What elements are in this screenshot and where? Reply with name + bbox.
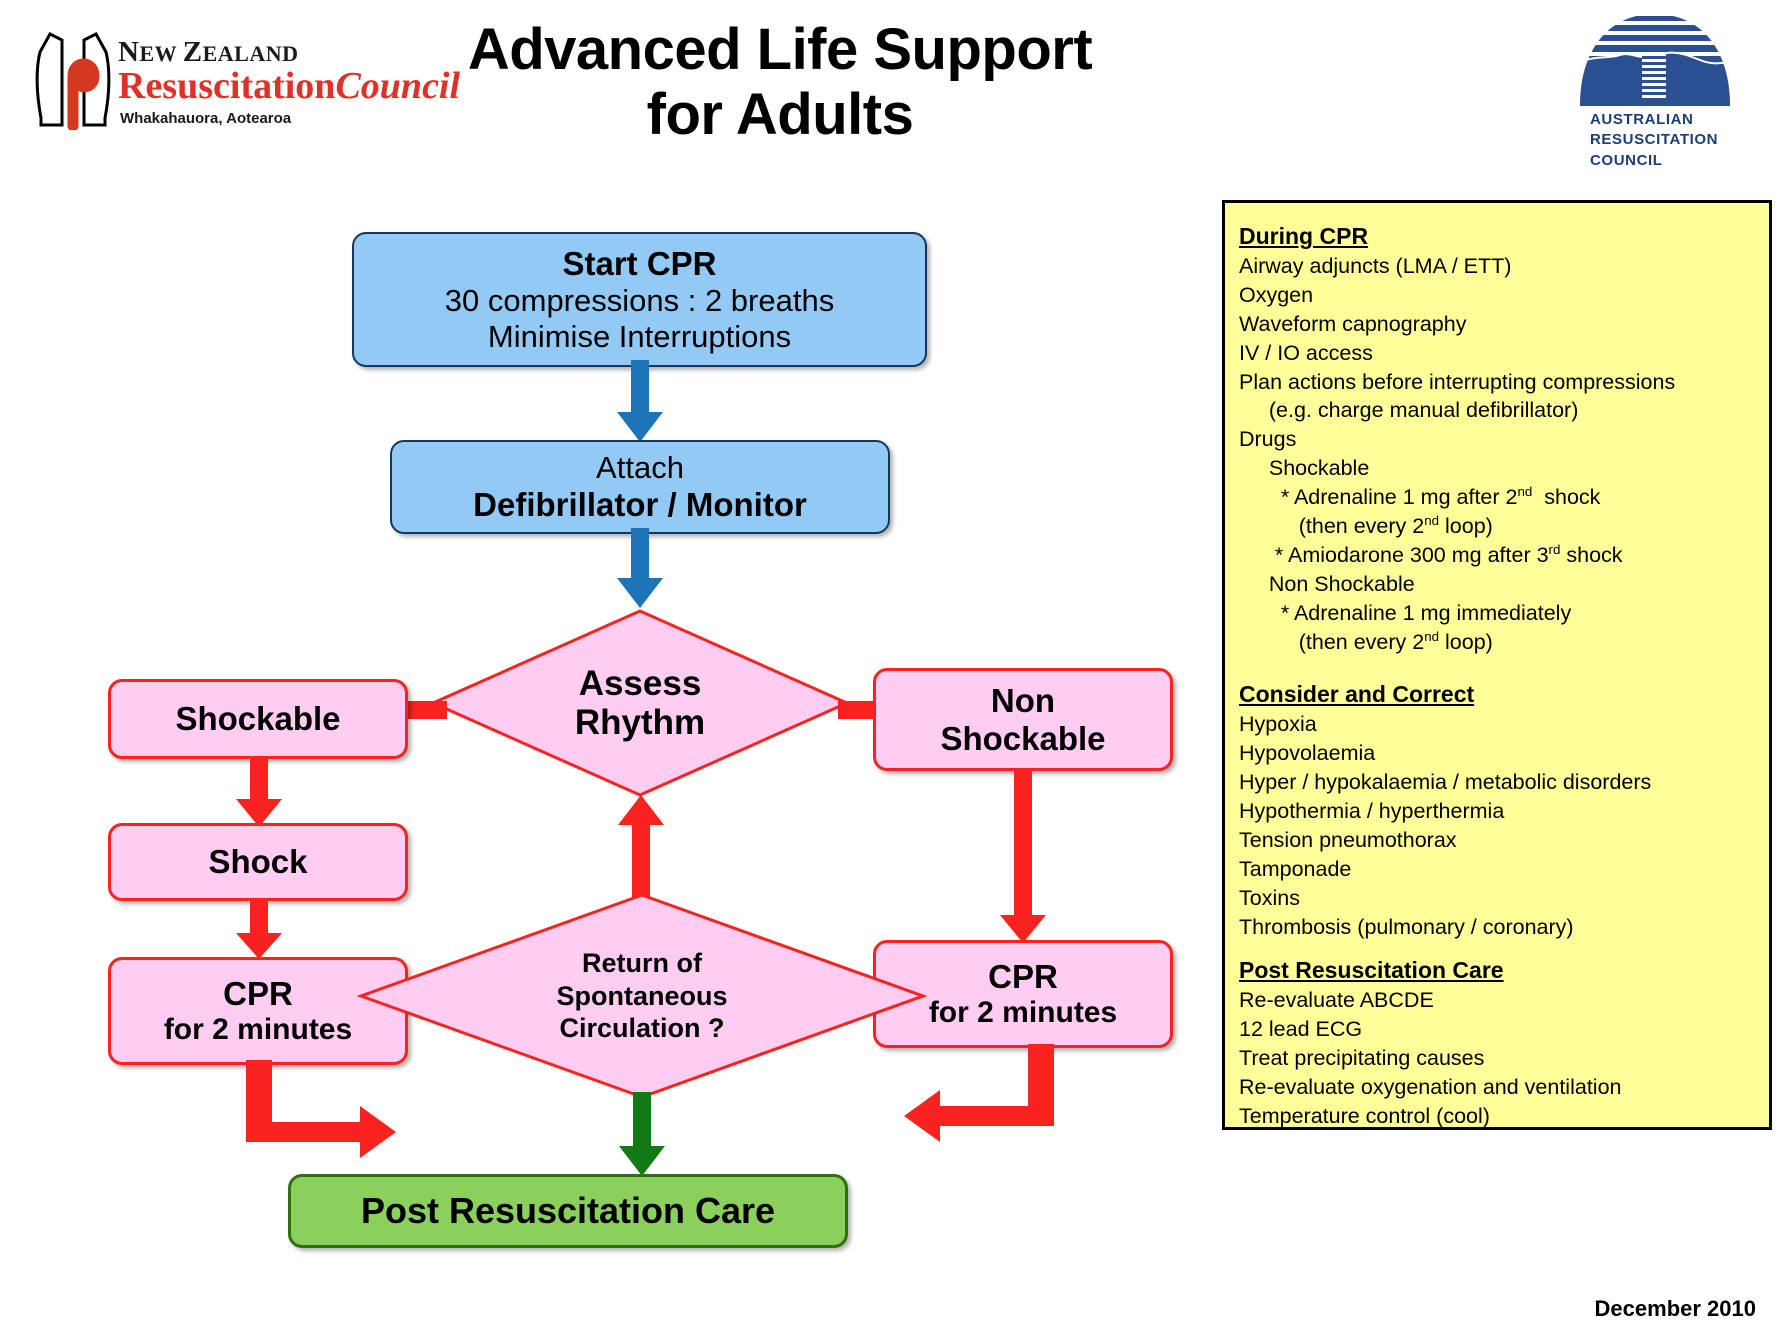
nz-resuscitation-council-logo: NEW ZEALAND ResuscitationCouncil Whakaha… [22,24,402,134]
arc-logo-line3: COUNCIL [1590,151,1718,171]
node-shock[interactable]: Shock [108,823,408,901]
during-cpr-item: (e.g. charge manual defibrillator) [1239,396,1755,425]
node-non-shockable[interactable]: Non Shockable [873,668,1173,771]
node-return-of-spontaneous-circulation[interactable]: Return of Spontaneous Circulation ? [358,892,926,1100]
shockable-label: Shockable [175,700,340,738]
rosc-label: Return of Spontaneous Circulation ? [358,892,926,1100]
arrow-shockable-to-shock [232,757,286,829]
cpr-right-heading: CPR [988,958,1058,996]
drug-amiodarone-after-3rd-shock: * Amiodarone 300 mg after 3rd shock [1239,541,1755,570]
assess-rhythm-line1: Assess [579,664,702,703]
cpr-right-duration: for 2 minutes [929,996,1117,1030]
post-resus-item: Treat precipitating causes [1239,1044,1755,1073]
cpr-left-duration: for 2 minutes [164,1013,352,1047]
start-cpr-ratio: 30 compressions : 2 breaths [445,283,834,319]
rosc-line1: Return of [582,947,702,980]
consider-item: Tamponade [1239,855,1755,884]
attach-device-label: Defibrillator / Monitor [473,486,807,524]
node-post-resuscitation-care-box[interactable]: Post Resuscitation Care [288,1174,848,1248]
shock-label: Shock [208,843,307,881]
lungs-koru-icon [32,30,114,130]
consider-item: Hypovolaemia [1239,739,1755,768]
post-resus-item: Re-evaluate oxygenation and ventilation [1239,1073,1755,1102]
during-cpr-item: Airway adjuncts (LMA / ETT) [1239,252,1755,281]
consider-item: Hypoxia [1239,710,1755,739]
nz-logo-tagline: Whakahauora, Aotearoa [120,110,291,127]
page-title-line1: Advanced Life Support [430,18,1130,83]
arrow-rosc-to-post-resus [615,1092,669,1178]
during-cpr-item: Drugs [1239,425,1755,454]
node-assess-rhythm[interactable]: Assess Rhythm [430,608,850,798]
guidance-panel: During CPR Airway adjuncts (LMA / ETT) O… [1222,200,1772,1130]
consider-item: Tension pneumothorax [1239,826,1755,855]
consider-item: Toxins [1239,884,1755,913]
arc-logo-text: AUSTRALIAN RESUSCITATION COUNCIL [1590,110,1718,171]
drug-adrenaline-immediately: * Adrenaline 1 mg immediately [1239,599,1755,628]
arrow-start-to-attach [612,360,668,444]
assess-rhythm-line2: Rhythm [575,703,705,742]
during-cpr-item: Plan actions before interrupting compres… [1239,368,1755,397]
arrow-attach-to-assess [612,528,668,610]
poster-canvas: NEW ZEALAND ResuscitationCouncil Whakaha… [0,0,1786,1336]
non-shockable-line2: Shockable [940,720,1105,758]
post-resus-item: 12 lead ECG [1239,1015,1755,1044]
rosc-line3: Circulation ? [559,1012,724,1045]
australian-resuscitation-council-logo: AUSTRALIAN RESUSCITATION COUNCIL [1570,10,1770,170]
panel-spacer [1239,657,1755,679]
drug-group-non-shockable: Non Shockable [1239,570,1755,599]
publication-date: December 2010 [1595,1296,1756,1322]
consider-item: Hypothermia / hyperthermia [1239,797,1755,826]
rosc-line2: Spontaneous [556,980,727,1013]
arc-dome-icon [1570,10,1740,110]
post-resus-item: Temperature control (cool) [1239,1102,1755,1131]
assess-rhythm-label: Assess Rhythm [430,608,850,798]
arc-logo-line2: RESUSCITATION [1590,130,1718,150]
arrow-shock-to-cpr-left [232,899,286,961]
during-cpr-item: Waveform capnography [1239,310,1755,339]
node-start-cpr[interactable]: Start CPR 30 compressions : 2 breaths Mi… [352,232,927,367]
during-cpr-item: Shockable [1239,454,1755,483]
post-resus-care-heading: Post Resuscitation Care [1239,955,1755,986]
during-cpr-heading: During CPR [1239,221,1755,252]
post-resus-label: Post Resuscitation Care [361,1190,775,1232]
page-title: Advanced Life Support for Adults [430,18,1130,148]
drug-then-every-2nd-loop-2: (then every 2nd loop) [1239,628,1755,657]
non-shockable-line1: Non [991,682,1055,720]
nz-logo-line2: ResuscitationCouncil [118,64,460,108]
node-attach-defibrillator[interactable]: Attach Defibrillator / Monitor [390,440,890,534]
panel-spacer [1239,941,1755,955]
cpr-left-heading: CPR [223,975,293,1013]
page-title-line2: for Adults [430,83,1130,148]
during-cpr-item: Oxygen [1239,281,1755,310]
drug-adrenaline-after-2nd-shock: * Adrenaline 1 mg after 2nd shock [1239,483,1755,512]
consider-and-correct-heading: Consider and Correct [1239,679,1755,710]
drug-then-every-2nd-loop: (then every 2nd loop) [1239,512,1755,541]
post-resus-item: Re-evaluate ABCDE [1239,986,1755,1015]
start-cpr-heading: Start CPR [562,245,716,283]
consider-item: Thrombosis (pulmonary / coronary) [1239,913,1755,942]
attach-label: Attach [596,450,684,486]
start-cpr-minimise: Minimise Interruptions [488,319,791,355]
node-shockable[interactable]: Shockable [108,679,408,759]
arc-logo-line1: AUSTRALIAN [1590,110,1718,130]
arrow-non-shockable-to-cpr-right [996,769,1050,945]
consider-item: Hyper / hypokalaemia / metabolic disorde… [1239,768,1755,797]
arrow-rosc-to-assess [614,795,668,901]
during-cpr-item: IV / IO access [1239,339,1755,368]
